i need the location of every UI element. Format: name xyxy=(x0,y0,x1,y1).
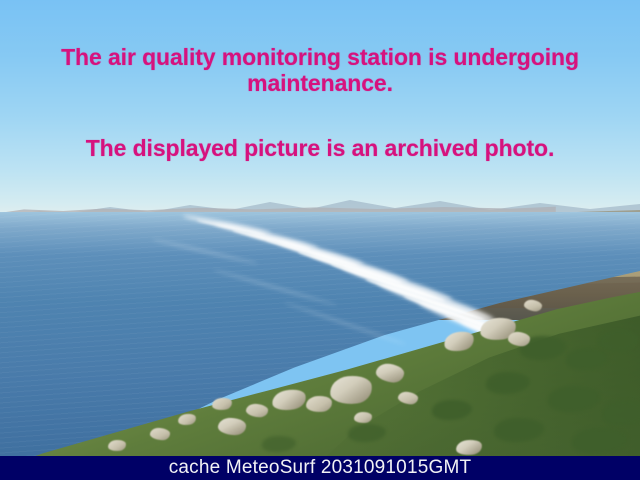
sky xyxy=(0,0,640,214)
archived-photo xyxy=(0,0,640,480)
caption-label: cache MeteoSurf 2031091015GMT xyxy=(169,456,472,480)
caption-bar: cache MeteoSurf 2031091015GMT xyxy=(0,456,640,480)
webcam-frame: The air quality monitoring station is un… xyxy=(0,0,640,480)
